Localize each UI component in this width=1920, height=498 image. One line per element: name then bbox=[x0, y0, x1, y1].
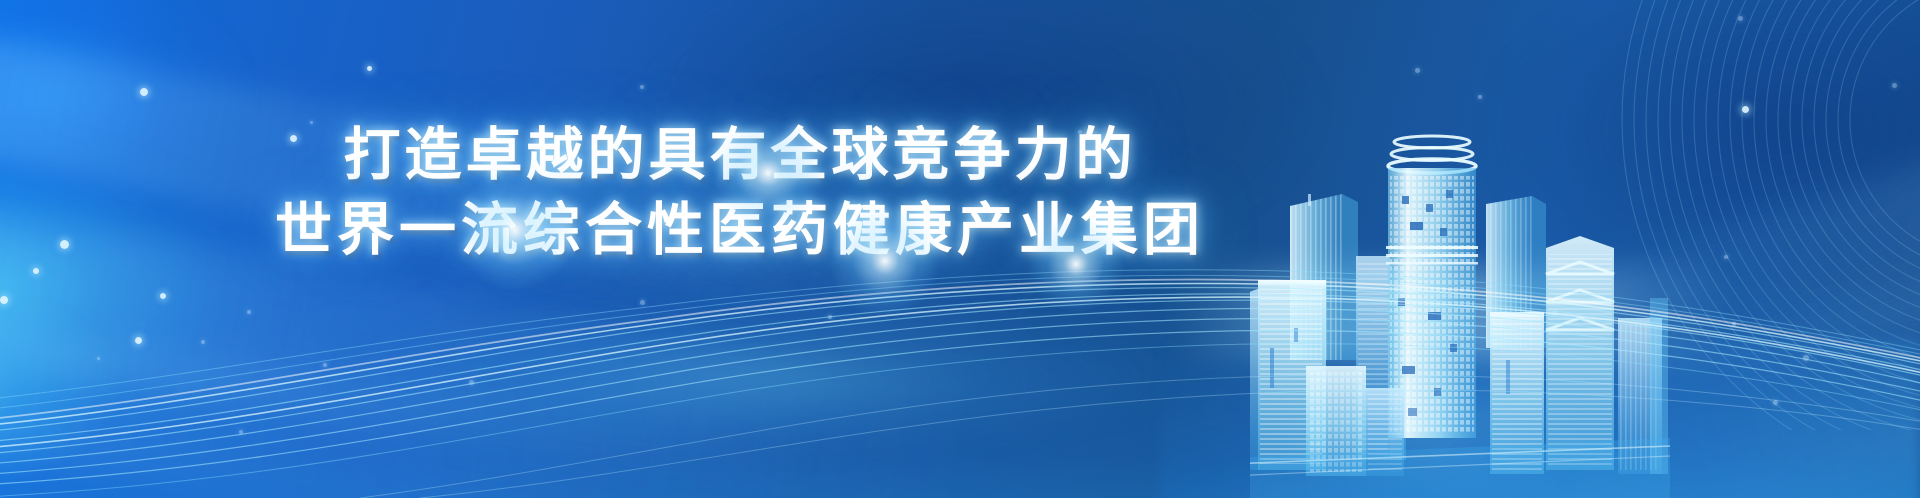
light-particle bbox=[1803, 355, 1809, 361]
concentric-arc-ripples-icon bbox=[1430, 0, 1920, 430]
light-particle bbox=[140, 88, 148, 96]
hero-banner: 打造卓越的具有全球竞争力的 世界一流综合性医药健康产业集团 bbox=[0, 0, 1920, 498]
light-particle bbox=[239, 430, 243, 434]
light-particle bbox=[640, 300, 645, 305]
light-particle bbox=[97, 357, 100, 360]
light-particle bbox=[1892, 83, 1897, 88]
light-particle bbox=[367, 66, 372, 71]
light-particle bbox=[1738, 16, 1743, 21]
building-far-right bbox=[1618, 298, 1668, 474]
light-particle bbox=[0, 296, 8, 304]
building-striped-small bbox=[1356, 256, 1406, 460]
headline-line-1: 打造卓越的具有全球竞争力的 bbox=[0, 118, 1480, 193]
light-particle bbox=[135, 337, 142, 344]
city-mist-layer bbox=[1170, 268, 1730, 358]
wave-glow-layer bbox=[150, 288, 1250, 468]
building-front-low-mid bbox=[1366, 388, 1404, 476]
building-left-grid bbox=[1258, 280, 1326, 470]
city-ground-reflection bbox=[1250, 438, 1670, 498]
headline-line-2: 世界一流综合性医药健康产业集团 bbox=[0, 193, 1480, 268]
light-particle bbox=[160, 293, 166, 299]
light-particle bbox=[33, 268, 39, 274]
building-right-stepped bbox=[1546, 236, 1614, 470]
light-beam-lower-left bbox=[0, 285, 819, 498]
light-particle bbox=[828, 315, 832, 319]
light-particle bbox=[469, 380, 474, 385]
building-right-slab bbox=[1486, 196, 1546, 348]
light-particle bbox=[247, 310, 251, 314]
banner-headline: 打造卓越的具有全球竞争力的 世界一流综合性医药健康产业集团 bbox=[0, 118, 1480, 268]
light-particle bbox=[1724, 255, 1728, 259]
background-wash-bottom bbox=[0, 278, 1920, 498]
light-particle bbox=[201, 340, 205, 344]
building-far-left-edge bbox=[1250, 288, 1260, 470]
light-particle bbox=[1415, 68, 1420, 73]
light-particle bbox=[1742, 106, 1749, 113]
light-particle bbox=[640, 85, 644, 89]
building-right-mid bbox=[1490, 312, 1544, 474]
light-particle bbox=[1478, 95, 1482, 99]
light-particle bbox=[1552, 310, 1558, 316]
light-particle bbox=[1732, 322, 1736, 326]
light-particle bbox=[1773, 400, 1778, 405]
city-glow-layer bbox=[1230, 268, 1630, 488]
background-wash-bottom-right bbox=[1160, 338, 1920, 498]
light-particle bbox=[323, 363, 327, 367]
building-front-low-left bbox=[1306, 366, 1366, 476]
